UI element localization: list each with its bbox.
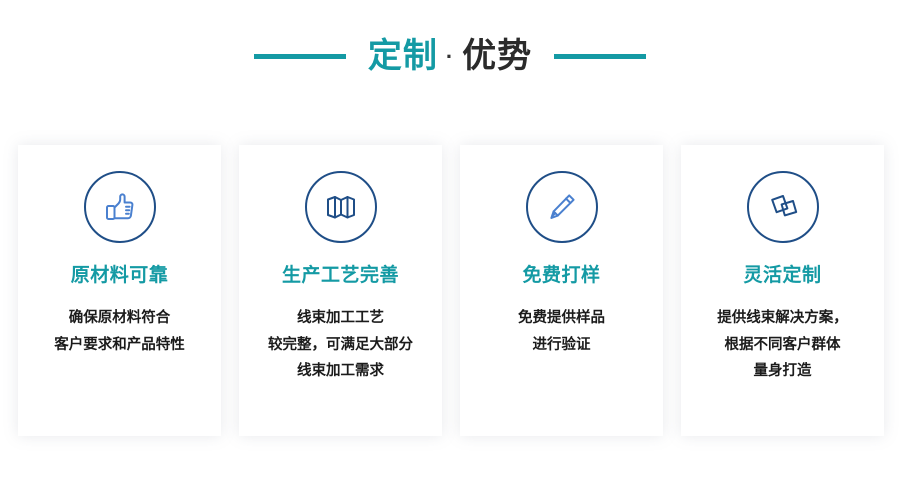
icon-circle [84,171,156,243]
heading-text: 定制 · 优势 [368,39,532,73]
section-heading: 定制 · 优势 [0,22,900,90]
card-title: 原材料可靠 [71,265,169,288]
thumbs-up-icon [101,188,139,226]
heading-rule-left [254,54,346,59]
card-body-line: 确保原材料符合 [54,305,185,332]
card-title: 灵活定制 [743,265,821,288]
advantage-card[interactable]: 免费打样 免费提供样品 进行验证 [460,145,663,436]
icon-circle [305,171,377,243]
advantage-card[interactable]: 原材料可靠 确保原材料符合 客户要求和产品特性 [18,145,221,436]
card-title: 免费打样 [522,265,600,288]
heading-secondary: 优势 [462,39,532,73]
folded-map-icon [322,188,360,226]
card-body-line: 提供线束解决方案， [717,305,848,332]
heading-primary: 定制 [368,39,438,73]
advantage-card[interactable]: 灵活定制 提供线束解决方案， 根据不同客户群体 量身打造 [681,145,884,436]
card-body: 免费提供样品 进行验证 [510,305,613,359]
card-body-line: 客户要求和产品特性 [54,332,185,359]
advantage-card[interactable]: 生产工艺完善 线束加工工艺 较完整，可满足大部分 线束加工需求 [239,145,442,436]
card-title: 生产工艺完善 [282,265,399,288]
card-body: 线束加工工艺 较完整，可满足大部分 线束加工需求 [260,305,421,385]
pencil-icon [543,188,581,226]
card-body-line: 根据不同客户群体 [717,332,848,359]
card-body-line: 量身打造 [717,358,848,385]
heading-rule-right [554,54,646,59]
stacked-sheets-icon [764,188,802,226]
icon-circle [526,171,598,243]
heading-separator: · [440,46,460,68]
advantage-card-list: 原材料可靠 确保原材料符合 客户要求和产品特性 生产工艺完善 线束加工工艺 较完… [18,145,884,436]
icon-circle [747,171,819,243]
card-body-line: 免费提供样品 [518,305,605,332]
card-body-line: 线束加工需求 [268,358,413,385]
card-body: 提供线束解决方案， 根据不同客户群体 量身打造 [709,305,856,385]
card-body-line: 较完整，可满足大部分 [268,332,413,359]
card-body: 确保原材料符合 客户要求和产品特性 [46,305,193,359]
card-body-line: 进行验证 [518,332,605,359]
card-body-line: 线束加工工艺 [268,305,413,332]
